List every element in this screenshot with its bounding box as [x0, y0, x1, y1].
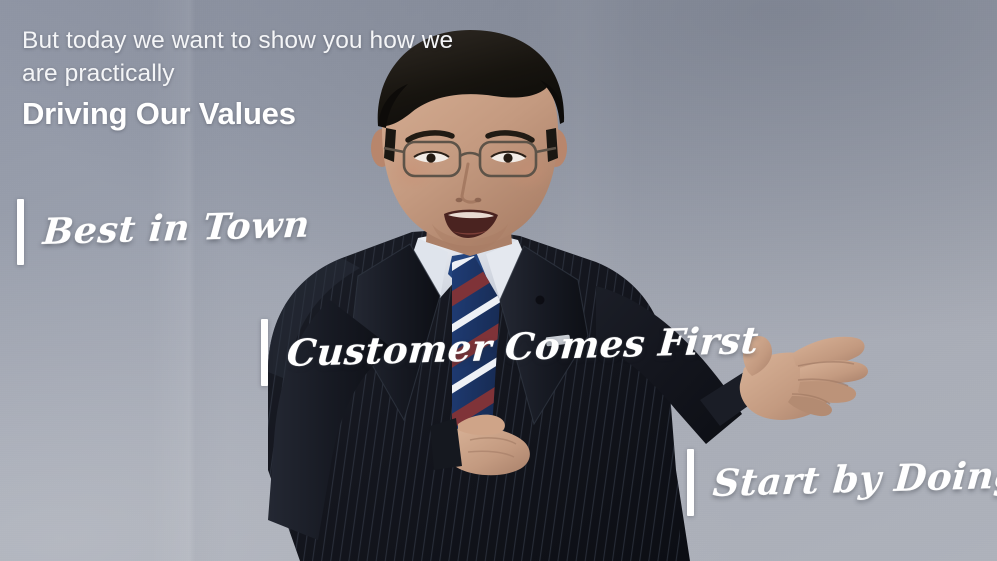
headline-emphasis: Driving Our Values — [22, 97, 582, 131]
callout-customer-comes-first: Customer Comes First — [261, 319, 757, 386]
speaker-right-hand — [740, 336, 868, 420]
callout-accent-bar — [261, 319, 268, 386]
headline-block: But today we want to show you how we are… — [22, 25, 582, 131]
callout-best-in-town: Best in Town — [17, 199, 309, 265]
callout-label: Start by Doing — [711, 452, 997, 505]
callout-label: Best in Town — [41, 204, 311, 253]
headline-lead-line-2: are practically — [22, 58, 582, 91]
callout-label: Customer Comes First — [285, 317, 760, 374]
headline-lead-line-1: But today we want to show you how we — [22, 25, 582, 58]
callout-accent-bar — [687, 449, 694, 516]
callout-accent-bar — [17, 199, 24, 265]
slide-canvas: But today we want to show you how we are… — [0, 0, 997, 561]
callout-start-by-doing: Start by Doing — [687, 449, 997, 516]
